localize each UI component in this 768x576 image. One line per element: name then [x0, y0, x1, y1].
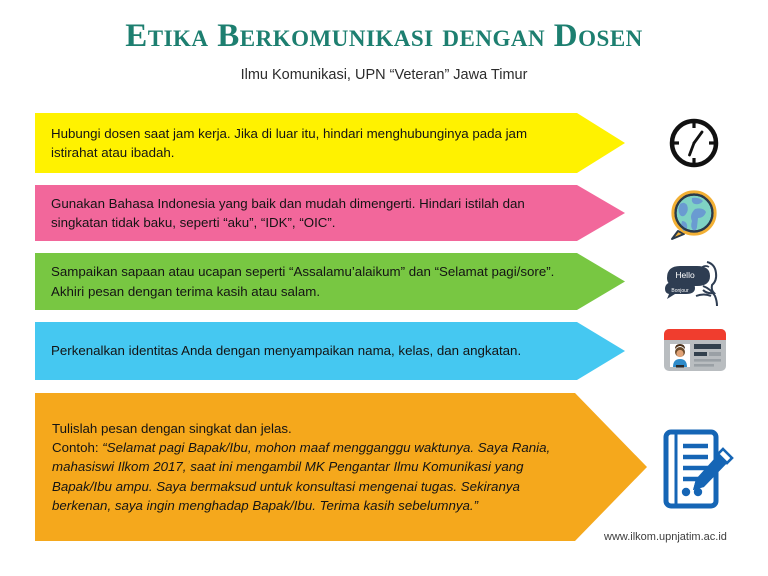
- tip-banner-1-text: Hubungi dosen saat jam kerja. Jika di lu…: [35, 124, 625, 163]
- tip-banner-1: Hubungi dosen saat jam kerja. Jika di lu…: [35, 113, 625, 173]
- svg-text:Hello: Hello: [675, 270, 695, 280]
- globe-speech-bubble-icon: [666, 187, 722, 243]
- icon-slot-5: [655, 420, 741, 520]
- page-subtitle: Ilmu Komunikasi, UPN “Veteran” Jawa Timu…: [0, 54, 768, 84]
- infographic-poster: Etika Berkomunikasi dengan Dosen Ilmu Ko…: [0, 0, 768, 576]
- tip-banner-5-line1: Tulislah pesan dengan singkat dan jelas.: [52, 419, 561, 438]
- tip-banner-2: Gunakan Bahasa Indonesia yang baik dan m…: [35, 185, 625, 241]
- tip-banner-5-example-label: Contoh:: [52, 440, 102, 455]
- document-pencil-icon: [660, 427, 736, 513]
- hello-greeting-icon: Hello Bonjour: [663, 256, 725, 306]
- icon-slot-2: [658, 183, 730, 247]
- tip-banner-5-text: Tulislah pesan dengan singkat dan jelas.…: [35, 419, 647, 515]
- tip-banner-4-text: Perkenalkan identitas Anda dengan menyam…: [35, 341, 625, 360]
- tip-banner-3-text: Sampaikan sapaan atau ucapan seperti “As…: [35, 262, 625, 301]
- tip-banner-4: Perkenalkan identitas Anda dengan menyam…: [35, 322, 625, 380]
- svg-text:Bonjour: Bonjour: [671, 288, 689, 294]
- clock-icon: [668, 117, 720, 169]
- icon-slot-1: [658, 110, 730, 176]
- tip-banner-5-example-quote: “Selamat pagi Bapak/Ibu, mohon maaf meng…: [52, 440, 550, 513]
- icon-slot-4: [655, 318, 735, 382]
- tip-banner-2-text: Gunakan Bahasa Indonesia yang baik dan m…: [35, 194, 625, 233]
- tip-banner-5-example: Contoh: “Selamat pagi Bapak/Ibu, mohon m…: [52, 438, 561, 515]
- tip-banner-5: Tulislah pesan dengan singkat dan jelas.…: [35, 393, 647, 541]
- site-url: www.ilkom.upnjatim.ac.id: [604, 531, 727, 543]
- icon-slot-3: Hello Bonjour: [655, 250, 733, 312]
- id-card-icon: [662, 325, 728, 375]
- page-title: Etika Berkomunikasi dengan Dosen: [0, 0, 768, 54]
- poster-header: Etika Berkomunikasi dengan Dosen Ilmu Ko…: [0, 0, 768, 85]
- tip-banner-3: Sampaikan sapaan atau ucapan seperti “As…: [35, 253, 625, 310]
